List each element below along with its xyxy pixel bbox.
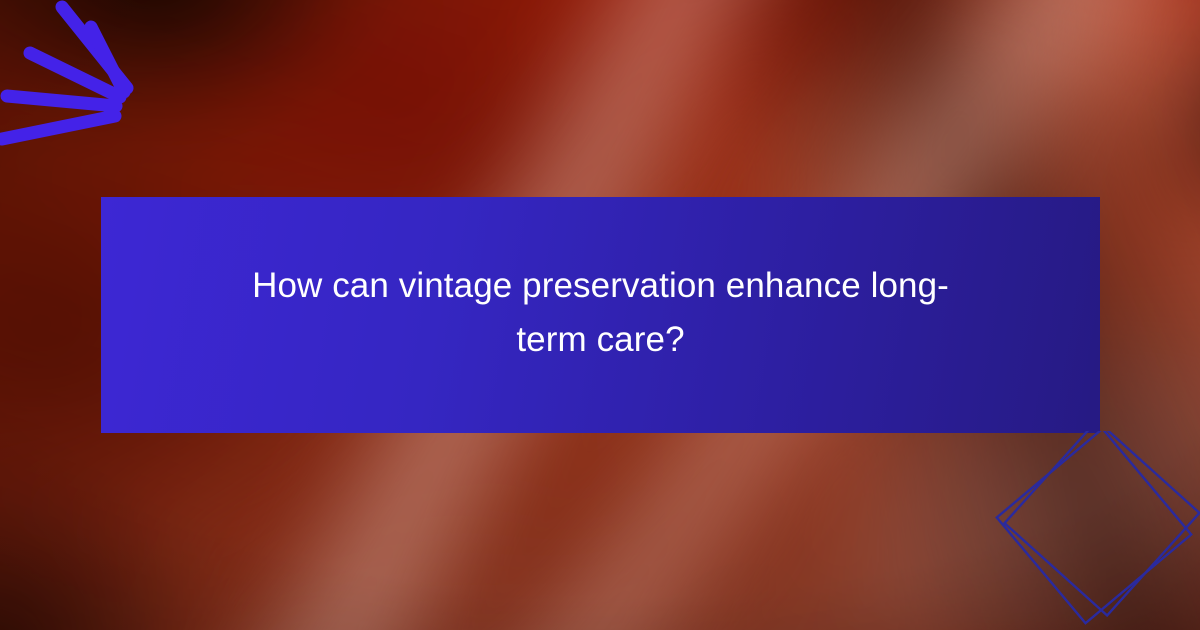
question-text: How can vintage preservation enhance lon… (251, 259, 951, 368)
question-card: How can vintage preservation enhance lon… (0, 0, 1200, 630)
starburst-icon (0, 0, 174, 176)
overlapping-squares-icon (980, 431, 1200, 630)
question-banner: How can vintage preservation enhance lon… (101, 197, 1100, 433)
